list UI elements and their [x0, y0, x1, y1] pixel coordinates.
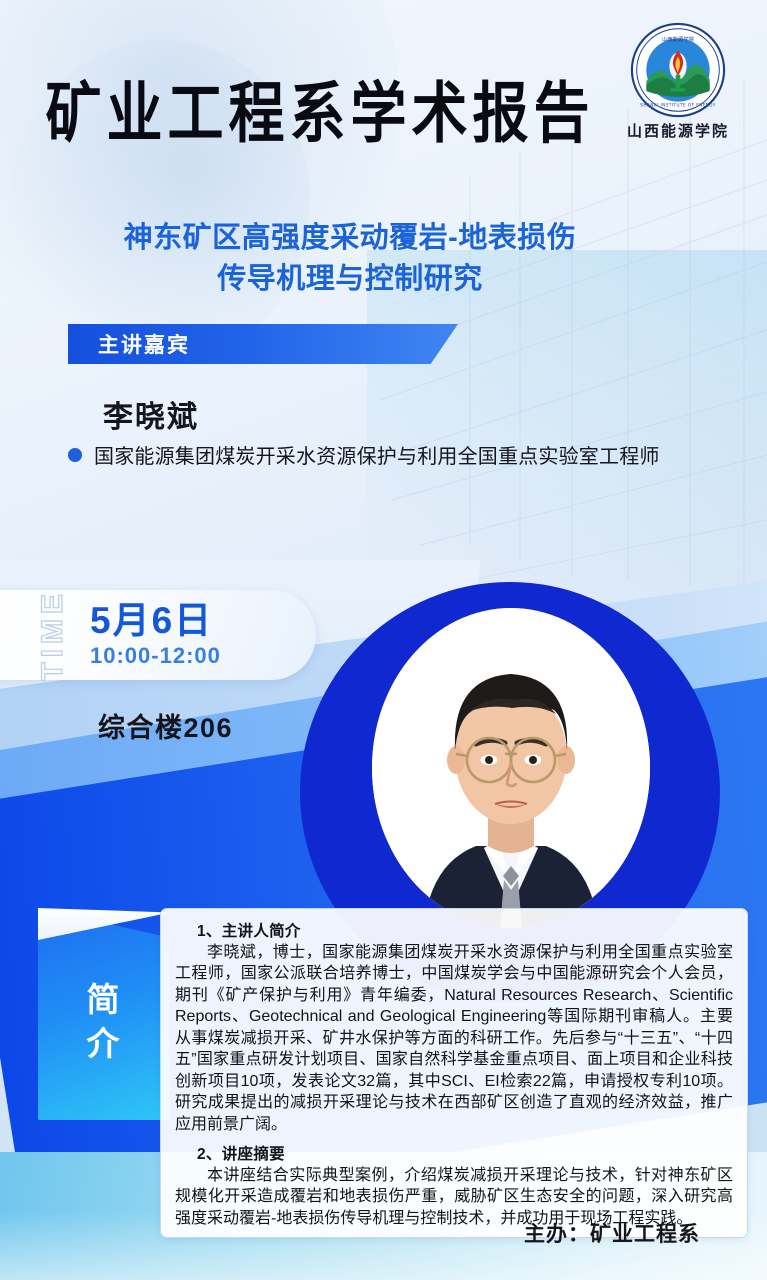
- university-emblem-icon: 山西能源学院 SHANXI INSTITUTE OF ENERGY: [630, 22, 726, 118]
- speaker-affiliation: 国家能源集团煤炭开采水资源保护与利用全国重点实验室工程师: [94, 440, 660, 469]
- speaker-portrait-illustration: [372, 608, 650, 928]
- intro-tab-label-char1: 简: [87, 978, 122, 1022]
- speaker-portrait: [372, 608, 650, 928]
- svg-text:山西能源学院: 山西能源学院: [662, 35, 695, 43]
- svg-text:SHANXI INSTITUTE OF ENERGY: SHANXI INSTITUTE OF ENERGY: [640, 102, 715, 107]
- event-venue: 综合楼206: [98, 706, 233, 745]
- background-blob-top-left: [0, 0, 400, 360]
- time-label-vertical: TIME: [38, 589, 68, 681]
- poster-canvas: 山西能源学院 SHANXI INSTITUTE OF ENERGY 山西能源学院…: [0, 0, 767, 1280]
- lecture-subtitle: 神东矿区高强度采动覆岩-地表损伤 传导机理与控制研究: [40, 218, 660, 300]
- bullet-dot-icon: [68, 448, 82, 462]
- lecture-subtitle-line1: 神东矿区高强度采动覆岩-地表损伤: [40, 218, 660, 259]
- section1-heading: 1、主讲人简介: [175, 919, 733, 941]
- speaker-section-banner: 主讲嘉宾: [68, 324, 458, 364]
- speaker-affiliation-row: 国家能源集团煤炭开采水资源保护与利用全国重点实验室工程师: [68, 440, 660, 469]
- section1-body: 李晓斌，博士，国家能源集团煤炭开采水资源保护与利用全国重点实验室工程师，国家公派…: [175, 942, 733, 1135]
- event-time-card: TIME 5月6日 10:00-12:00: [0, 590, 316, 680]
- host-department: 主办：矿业工程系: [0, 1218, 700, 1248]
- page-title: 矿业工程系学术报告: [0, 78, 640, 149]
- section2-heading: 2、讲座摘要: [175, 1142, 733, 1164]
- section-spacer: [175, 1135, 733, 1142]
- event-time-range: 10:00-12:00: [90, 643, 221, 669]
- intro-text-box: 1、主讲人简介 李晓斌，博士，国家能源集团煤炭开采水资源保护与利用全国重点实验室…: [160, 908, 748, 1238]
- intro-tab-label: 简 介: [38, 908, 170, 1120]
- event-time-texts: 5月6日 10:00-12:00: [90, 601, 221, 669]
- intro-tab-label-char2: 介: [87, 1022, 122, 1066]
- speaker-banner-label: 主讲嘉宾: [68, 329, 190, 359]
- speaker-name: 李晓斌: [103, 392, 199, 436]
- lecture-subtitle-line2: 传导机理与控制研究: [40, 259, 660, 300]
- event-date: 5月6日: [90, 601, 221, 641]
